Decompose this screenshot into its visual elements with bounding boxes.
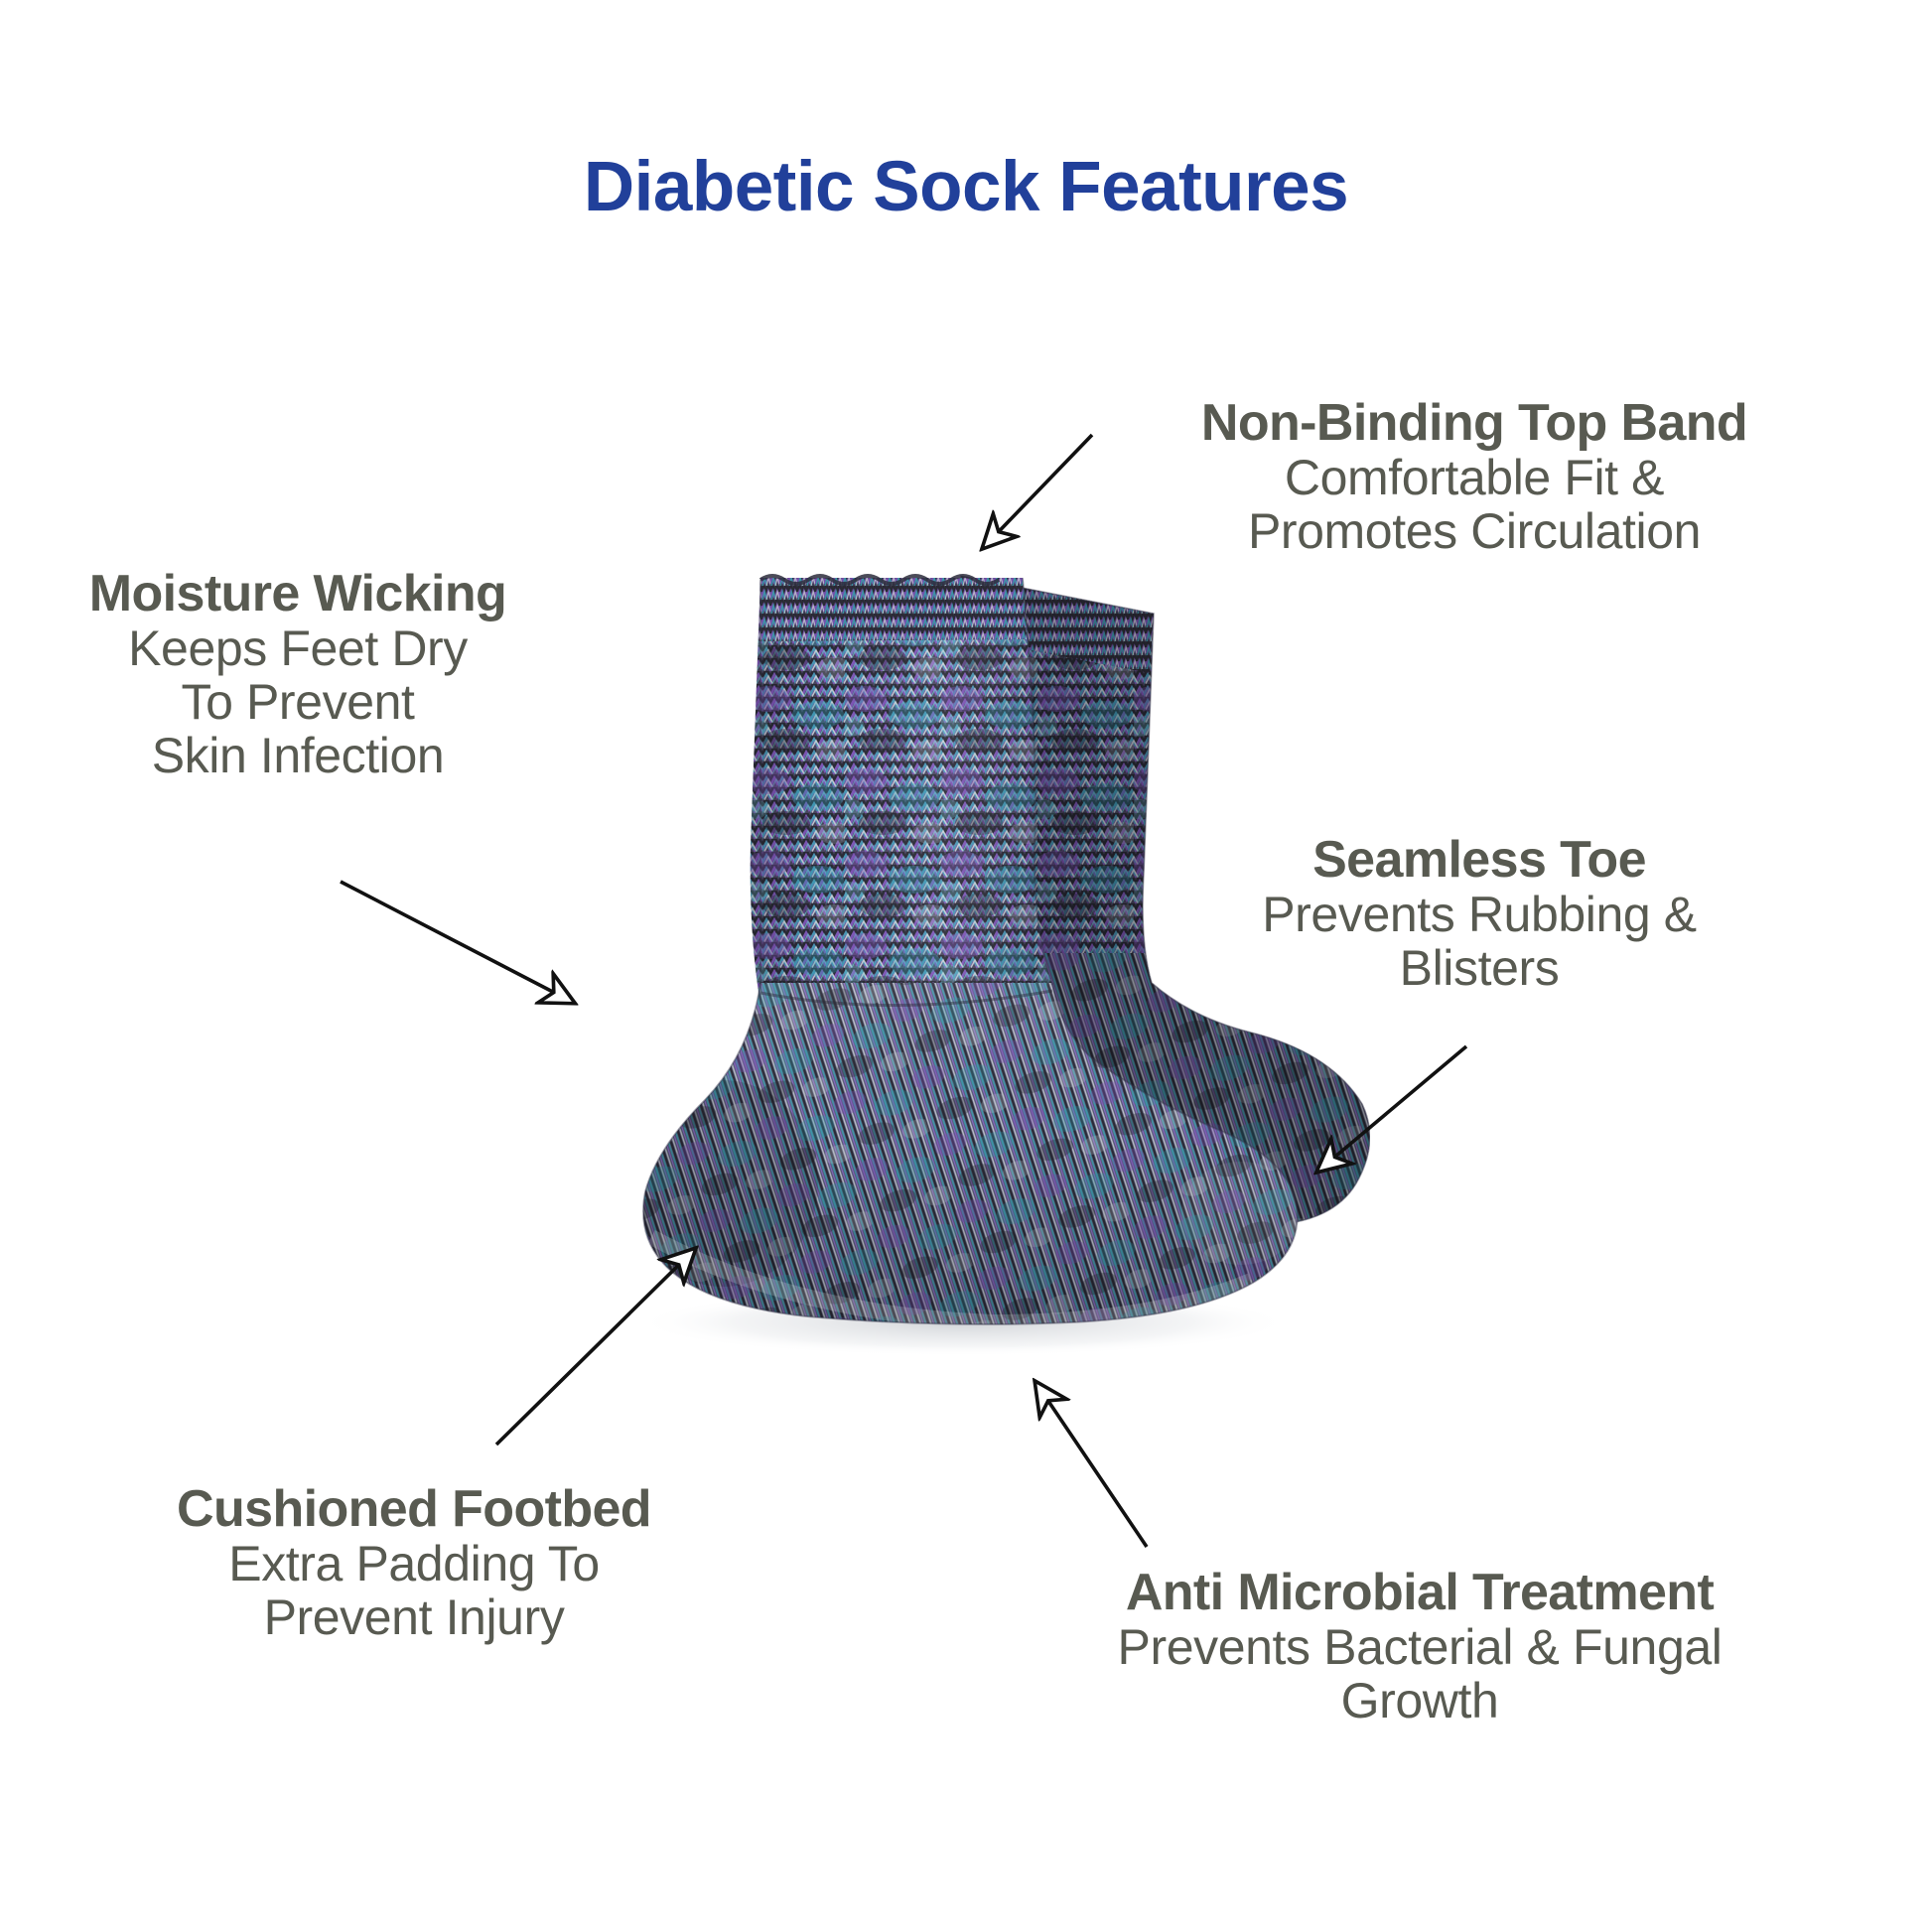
annotation-line: To Prevent bbox=[60, 675, 536, 729]
annotation-line: Keeps Feet Dry bbox=[60, 621, 536, 675]
annotation-line: Prevents Rubbing & bbox=[1122, 888, 1837, 941]
page-title: Diabetic Sock Features bbox=[0, 151, 1932, 225]
arrow-moisture-wicking bbox=[341, 882, 574, 1003]
annotation-description-anti-microbial-treatment: Prevents Bacterial & Fungal Growth bbox=[993, 1620, 1847, 1727]
annotation-moisture-wicking: Moisture Wicking Keeps Feet Dry To Preve… bbox=[60, 566, 536, 782]
annotation-title-non-binding-top-band: Non-Binding Top Band bbox=[1082, 395, 1866, 451]
annotation-title-moisture-wicking: Moisture Wicking bbox=[60, 566, 536, 621]
annotation-title-anti-microbial-treatment: Anti Microbial Treatment bbox=[993, 1565, 1847, 1620]
annotation-title-seamless-toe: Seamless Toe bbox=[1122, 832, 1837, 888]
arrow-anti-microbial-treatment bbox=[1035, 1382, 1147, 1547]
annotation-description-seamless-toe: Prevents Rubbing & Blisters bbox=[1122, 888, 1837, 995]
annotation-description-moisture-wicking: Keeps Feet Dry To Prevent Skin Infection bbox=[60, 621, 536, 782]
annotation-line: Skin Infection bbox=[60, 729, 536, 782]
front-sock-foot bbox=[625, 963, 1320, 1340]
annotation-line: Comfortable Fit & bbox=[1082, 451, 1866, 504]
infographic-canvas: Diabetic Sock Features bbox=[0, 0, 1932, 1932]
annotation-cushioned-footbed: Cushioned Footbed Extra Padding To Preve… bbox=[91, 1481, 737, 1644]
annotation-seamless-toe: Seamless Toe Prevents Rubbing & Blisters bbox=[1122, 832, 1837, 995]
annotation-title-line: Wicking bbox=[314, 565, 507, 622]
annotation-description-cushioned-footbed: Extra Padding To Prevent Injury bbox=[91, 1537, 737, 1644]
annotation-line: Prevent Injury bbox=[91, 1590, 737, 1644]
annotation-line: Extra Padding To bbox=[91, 1537, 737, 1590]
annotation-non-binding-top-band: Non-Binding Top Band Comfortable Fit & P… bbox=[1082, 395, 1866, 558]
annotation-title-cushioned-footbed: Cushioned Footbed bbox=[91, 1481, 737, 1537]
annotation-anti-microbial-treatment: Anti Microbial Treatment Prevents Bacter… bbox=[993, 1565, 1847, 1727]
annotation-line: Promotes Circulation bbox=[1082, 504, 1866, 558]
annotation-title-line: Moisture bbox=[89, 565, 300, 622]
annotation-line: Blisters bbox=[1122, 941, 1837, 995]
annotation-line: Prevents Bacterial & Fungal bbox=[993, 1620, 1847, 1674]
annotation-description-non-binding-top-band: Comfortable Fit & Promotes Circulation bbox=[1082, 451, 1866, 558]
annotation-line: Growth bbox=[993, 1674, 1847, 1727]
